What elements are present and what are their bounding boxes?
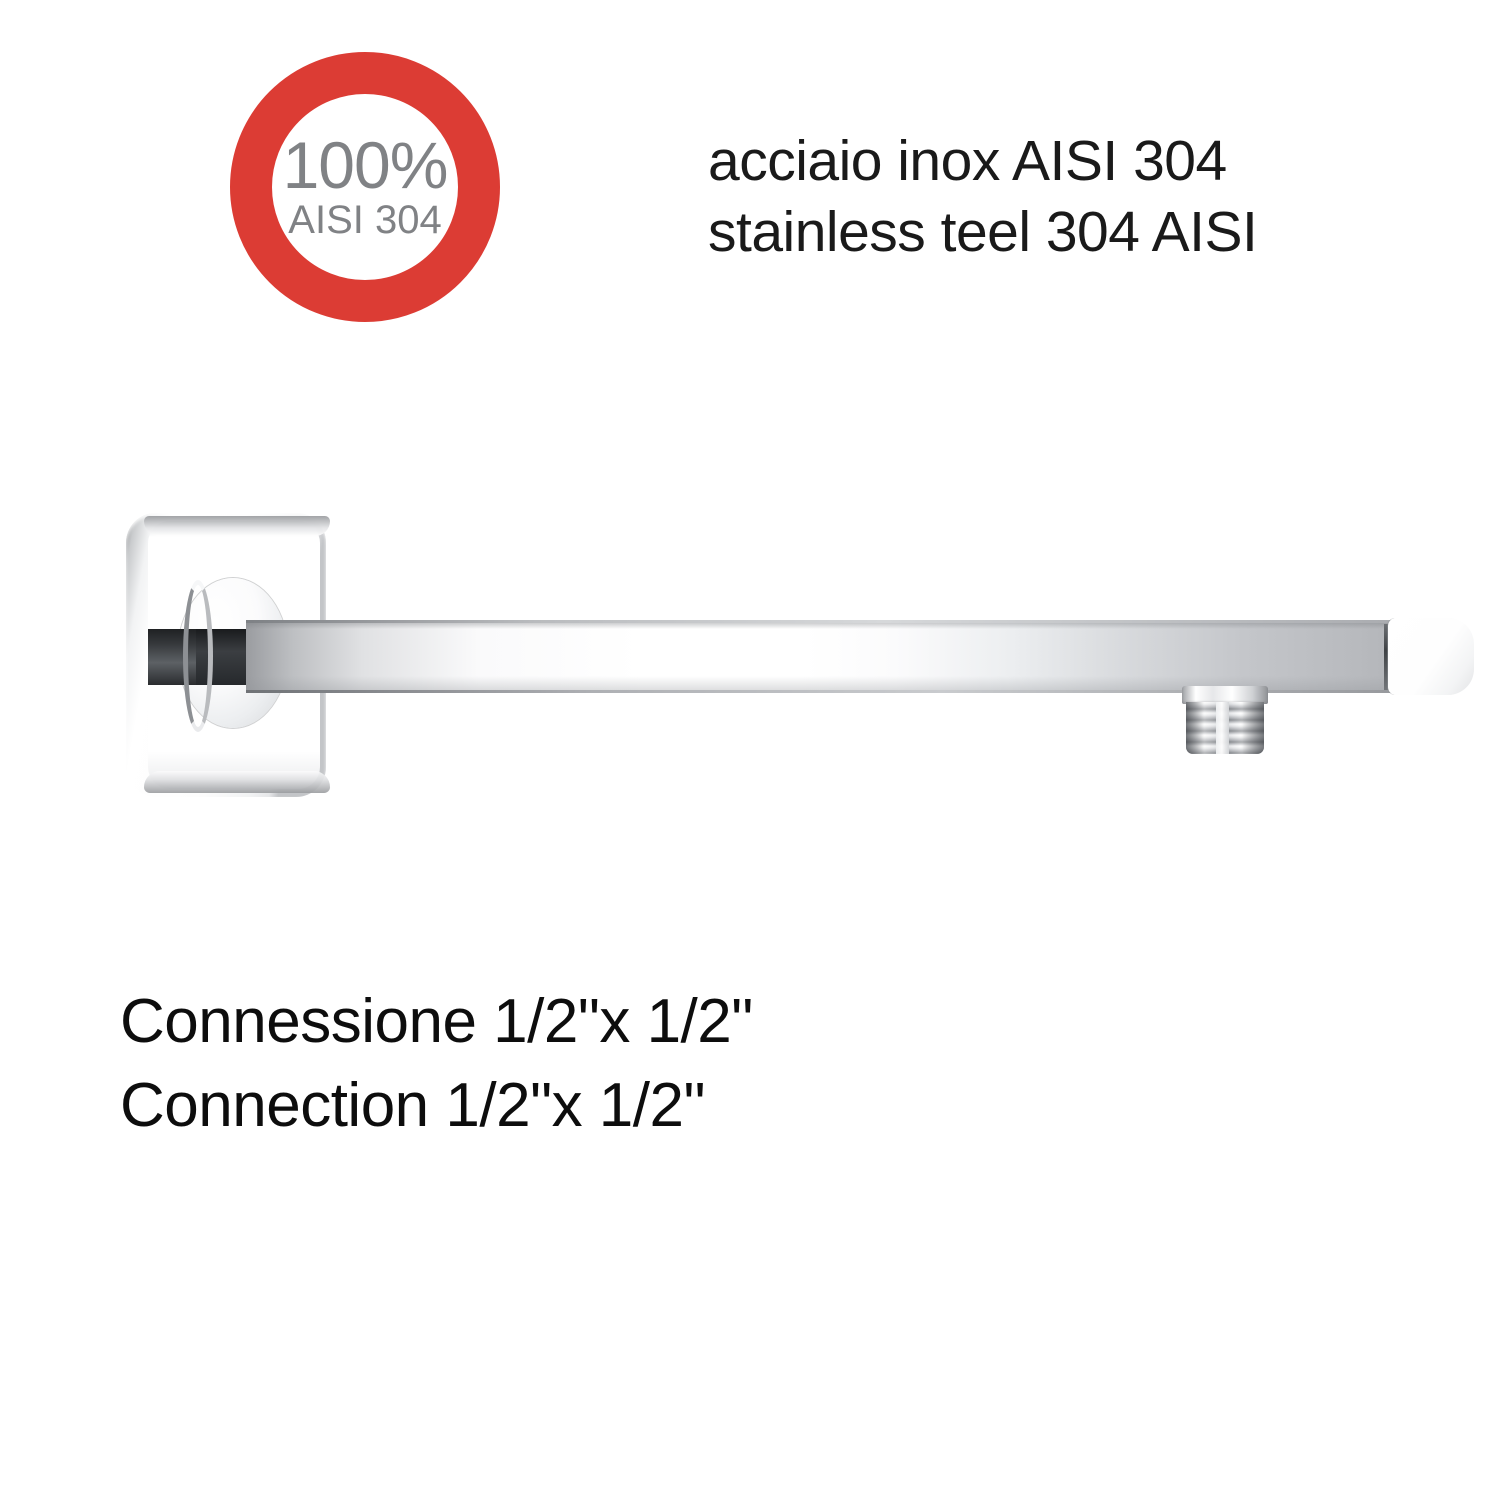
nipple-bore-highlight <box>1216 702 1229 754</box>
connection-caption-italian: Connessione 1/2"x 1/2" <box>120 980 753 1064</box>
wall-flange <box>126 513 326 797</box>
arm-end-cap <box>1388 618 1474 695</box>
arm-endcap-seam <box>1384 624 1389 690</box>
arm-collar-shadow-inner <box>196 629 262 685</box>
material-caption-italian: acciaio inox AISI 304 <box>708 126 1257 197</box>
material-caption: acciaio inox AISI 304 stainless teel 304… <box>708 126 1257 267</box>
material-caption-english: stainless teel 304 AISI <box>708 197 1257 268</box>
badge-percent-label: 100% <box>283 133 448 198</box>
flange-circular-boss <box>178 578 288 728</box>
threaded-outlet-nipple <box>1182 686 1268 756</box>
connection-caption: Connessione 1/2"x 1/2" Connection 1/2"x … <box>120 980 753 1147</box>
arm-front-face <box>246 620 1406 693</box>
arm-top-edge <box>246 620 1406 623</box>
connection-caption-english: Connection 1/2"x 1/2" <box>120 1064 753 1148</box>
arm-collar-shadow <box>148 629 260 685</box>
arm-face-shading <box>246 620 1406 693</box>
nipple-threads <box>1186 702 1264 754</box>
flange-bottom-bevel <box>144 771 330 793</box>
nipple-collar <box>1182 686 1268 704</box>
arm-collar-ring <box>183 580 213 732</box>
flange-top-bevel <box>144 516 330 536</box>
nipple-threads-shading <box>1186 702 1264 754</box>
arm-bottom-edge <box>246 690 1406 693</box>
badge-text-group: 100% AISI 304 <box>230 52 500 322</box>
aisi-304-badge: 100% AISI 304 <box>230 52 500 322</box>
flange-inner-face <box>148 521 320 789</box>
badge-grade-label: AISI 304 <box>288 199 441 241</box>
shower-arm-body <box>246 620 1426 693</box>
